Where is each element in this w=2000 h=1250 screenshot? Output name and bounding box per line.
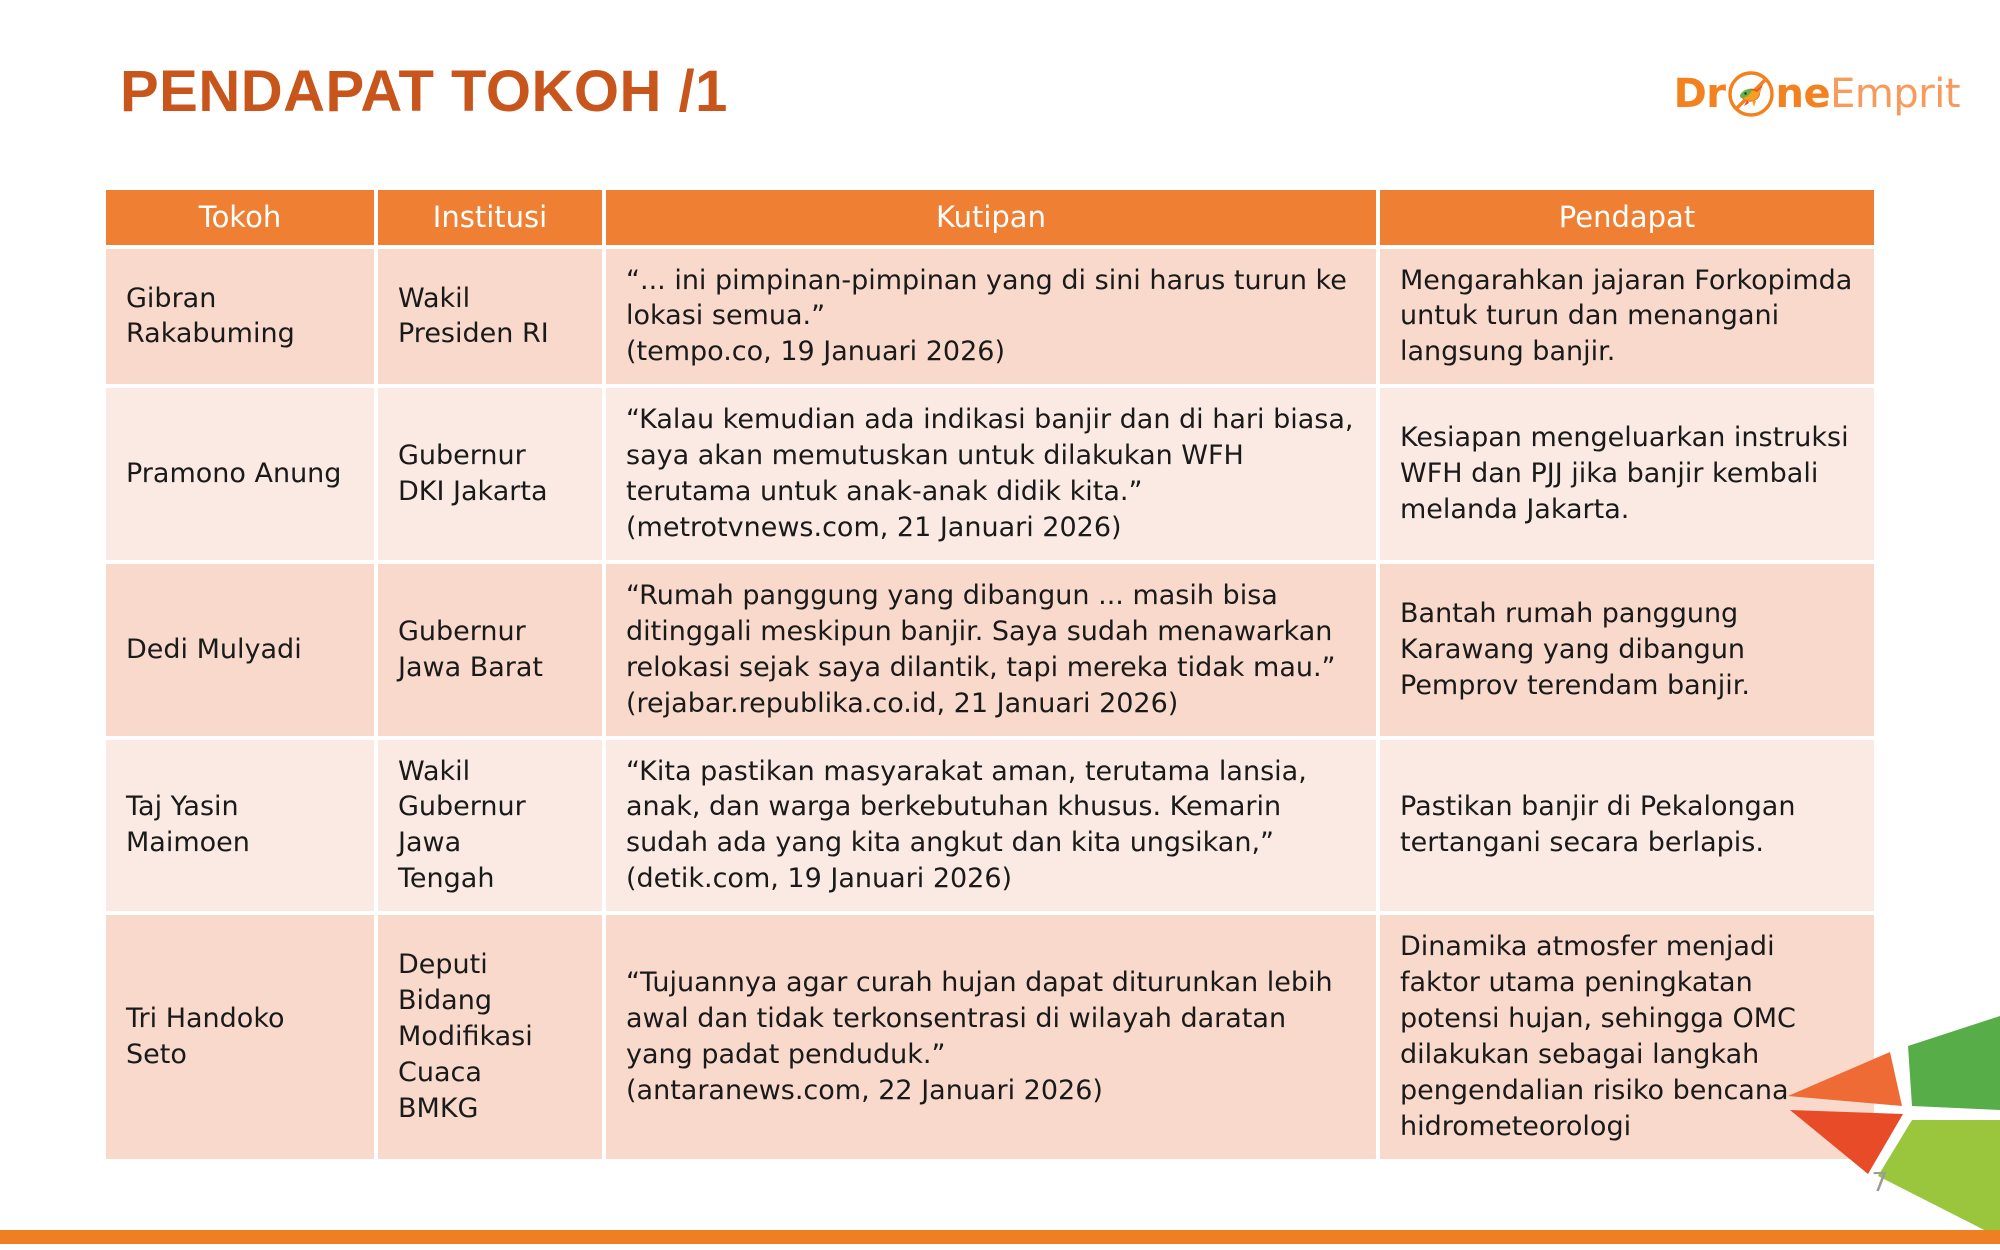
kutipan-text: “Kita pastikan masyarakat aman, terutama… bbox=[626, 756, 1307, 895]
table-row: Gibran Rakabuming Wakil Presiden RI “...… bbox=[106, 249, 1874, 385]
cell-pendapat: Kesiapan mengeluarkan instruksi WFH dan … bbox=[1380, 388, 1874, 560]
cell-tokoh: Taj Yasin Maimoen bbox=[106, 740, 374, 912]
cell-institusi: Wakil Gubernur Jawa Tengah bbox=[378, 740, 602, 912]
page-title: PENDAPAT TOKOH /1 bbox=[120, 58, 728, 125]
table-row: Tri Handoko Seto Deputi Bidang Modifikas… bbox=[106, 915, 1874, 1158]
tokoh-text: Gibran Rakabuming bbox=[126, 283, 295, 350]
logo-text-part2: ne bbox=[1776, 74, 1831, 114]
table-header-row: Tokoh Institusi Kutipan Pendapat bbox=[106, 190, 1874, 245]
tokoh-text: Taj Yasin Maimoen bbox=[126, 791, 250, 858]
cell-tokoh: Dedi Mulyadi bbox=[106, 564, 374, 736]
drone-emprit-bird-mark-icon bbox=[1727, 70, 1775, 118]
table-row: Pramono Anung Gubernur DKI Jakarta “Kala… bbox=[106, 388, 1874, 560]
cell-institusi: Gubernur Jawa Barat bbox=[378, 564, 602, 736]
cell-institusi: Wakil Presiden RI bbox=[378, 249, 602, 385]
cell-pendapat: Dinamika atmosfer menjadi faktor utama p… bbox=[1380, 915, 1874, 1158]
table-row: Dedi Mulyadi Gubernur Jawa Barat “Rumah … bbox=[106, 564, 1874, 736]
logo-wordmark: Dr ne Emprit bbox=[1674, 70, 1960, 118]
cell-pendapat: Pastikan banjir di Pekalongan tertangani… bbox=[1380, 740, 1874, 912]
cell-tokoh: Tri Handoko Seto bbox=[106, 915, 374, 1158]
pendapat-text: Bantah rumah panggung Karawang yang diba… bbox=[1400, 598, 1750, 701]
tokoh-text: Tri Handoko Seto bbox=[126, 1003, 285, 1070]
pendapat-text: Pastikan banjir di Pekalongan tertangani… bbox=[1400, 791, 1795, 858]
institusi-text: Deputi Bidang Modifikasi Cuaca BMKG bbox=[398, 949, 533, 1124]
cell-kutipan: “... ini pimpinan-pimpinan yang di sini … bbox=[606, 249, 1376, 385]
column-header-kutipan: Kutipan bbox=[606, 190, 1376, 245]
logo-text-part1: Dr bbox=[1674, 74, 1726, 114]
table-row: Taj Yasin Maimoen Wakil Gubernur Jawa Te… bbox=[106, 740, 1874, 912]
institusi-text: Wakil Presiden RI bbox=[398, 283, 549, 350]
column-header-institusi: Institusi bbox=[378, 190, 602, 245]
cell-institusi: Gubernur DKI Jakarta bbox=[378, 388, 602, 560]
slide-canvas: PENDAPAT TOKOH /1 Dr ne Emprit bbox=[0, 0, 2000, 1250]
cell-pendapat: Mengarahkan jajaran Forkopimda untuk tur… bbox=[1380, 249, 1874, 385]
pendapat-text: Mengarahkan jajaran Forkopimda untuk tur… bbox=[1400, 265, 1852, 368]
kutipan-text: “Tujuannya agar curah hujan dapat dituru… bbox=[626, 967, 1333, 1106]
cell-kutipan: “Kita pastikan masyarakat aman, terutama… bbox=[606, 740, 1376, 912]
column-header-pendapat: Pendapat bbox=[1380, 190, 1874, 245]
cell-kutipan: “Rumah panggung yang dibangun ... masih … bbox=[606, 564, 1376, 736]
page-number: 7 bbox=[1871, 1168, 1888, 1198]
drone-emprit-logo: Dr ne Emprit bbox=[1674, 62, 1960, 126]
cell-kutipan: “Kalau kemudian ada indikasi banjir dan … bbox=[606, 388, 1376, 560]
cell-institusi: Deputi Bidang Modifikasi Cuaca BMKG bbox=[378, 915, 602, 1158]
kutipan-text: “Kalau kemudian ada indikasi banjir dan … bbox=[626, 404, 1353, 543]
institusi-text: Wakil Gubernur Jawa Tengah bbox=[398, 756, 526, 895]
cell-kutipan: “Tujuannya agar curah hujan dapat dituru… bbox=[606, 915, 1376, 1158]
institusi-text: Gubernur Jawa Barat bbox=[398, 616, 543, 683]
kutipan-text: “... ini pimpinan-pimpinan yang di sini … bbox=[626, 265, 1347, 368]
tokoh-text: Pramono Anung bbox=[126, 458, 341, 489]
cell-tokoh: Pramono Anung bbox=[106, 388, 374, 560]
institusi-text: Gubernur DKI Jakarta bbox=[398, 440, 548, 507]
cell-tokoh: Gibran Rakabuming bbox=[106, 249, 374, 385]
kutipan-text: “Rumah panggung yang dibangun ... masih … bbox=[626, 580, 1336, 719]
bottom-accent-bar bbox=[0, 1230, 2000, 1244]
pendapat-text: Dinamika atmosfer menjadi faktor utama p… bbox=[1400, 931, 1796, 1142]
tokoh-text: Dedi Mulyadi bbox=[126, 634, 302, 665]
logo-text-part3: Emprit bbox=[1830, 74, 1960, 114]
pendapat-text: Kesiapan mengeluarkan instruksi WFH dan … bbox=[1400, 422, 1849, 525]
column-header-tokoh: Tokoh bbox=[106, 190, 374, 245]
pendapat-tokoh-table: Tokoh Institusi Kutipan Pendapat Gibran … bbox=[102, 186, 1878, 1163]
cell-pendapat: Bantah rumah panggung Karawang yang diba… bbox=[1380, 564, 1874, 736]
